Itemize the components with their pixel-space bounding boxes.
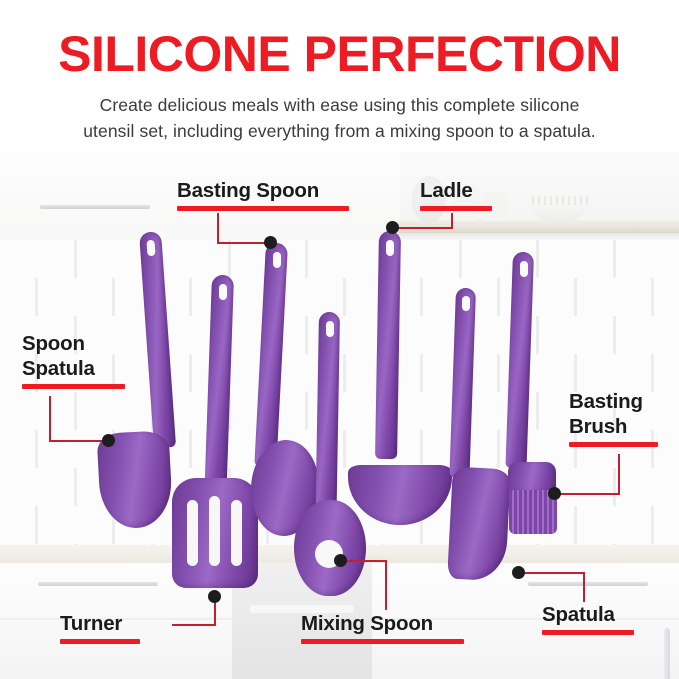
turner-slot-2 <box>209 496 220 566</box>
label-basting-brush-line-2: Brush <box>569 414 658 439</box>
label-spatula-text: Spatula <box>542 602 634 627</box>
subtitle-line-1: Create delicious meals with ease using t… <box>40 92 639 118</box>
label-turner-underline <box>60 639 140 644</box>
label-mixing-spoon: Mixing Spoon <box>301 611 464 644</box>
label-basting-brush: Basting Brush <box>569 389 658 447</box>
label-ladle-underline <box>420 206 492 211</box>
label-turner-text: Turner <box>60 611 140 636</box>
label-mixing-spoon-text: Mixing Spoon <box>301 611 464 636</box>
label-spoon-spatula-underline <box>22 384 125 389</box>
label-spatula: Spatula <box>542 602 634 635</box>
label-spoon-spatula: Spoon Spatula <box>22 331 125 389</box>
page-title: SILICONE PERFECTION <box>0 25 679 83</box>
label-mixing-spoon-underline <box>301 639 464 644</box>
product-infographic: SILICONE PERFECTION Create delicious mea… <box>0 0 679 679</box>
dot-mixing-spoon <box>334 554 347 567</box>
shelf-shadow <box>398 233 679 240</box>
turner-slot-1 <box>187 500 198 566</box>
dot-turner <box>208 590 221 603</box>
label-basting-spoon: Basting Spoon <box>177 178 349 211</box>
header-banner: SILICONE PERFECTION Create delicious mea… <box>0 0 679 152</box>
label-ladle-text: Ladle <box>420 178 492 203</box>
label-spoon-spatula-line-1: Spoon <box>22 331 125 356</box>
upper-cabinet-handle-left <box>40 205 150 209</box>
label-basting-brush-underline <box>569 442 658 447</box>
dot-spoon-spatula <box>102 434 115 447</box>
lower-cabinet-handle-right <box>528 582 648 586</box>
label-basting-brush-line-1: Basting <box>569 389 658 414</box>
cabinet-rail-right <box>664 628 670 679</box>
dot-basting-brush <box>548 487 561 500</box>
label-ladle: Ladle <box>420 178 492 211</box>
dot-spatula <box>512 566 525 579</box>
dot-basting-spoon <box>264 236 277 249</box>
turner-slot-3 <box>231 500 242 566</box>
label-spatula-underline <box>542 630 634 635</box>
label-basting-spoon-text: Basting Spoon <box>177 178 349 203</box>
label-turner: Turner <box>60 611 140 644</box>
page-subtitle: Create delicious meals with ease using t… <box>40 92 639 144</box>
lower-cabinet-handle-left <box>38 582 158 586</box>
label-basting-spoon-underline <box>177 206 349 211</box>
subtitle-line-2: utensil set, including everything from a… <box>40 118 639 144</box>
dot-ladle <box>386 221 399 234</box>
label-spoon-spatula-line-2: Spatula <box>22 356 125 381</box>
